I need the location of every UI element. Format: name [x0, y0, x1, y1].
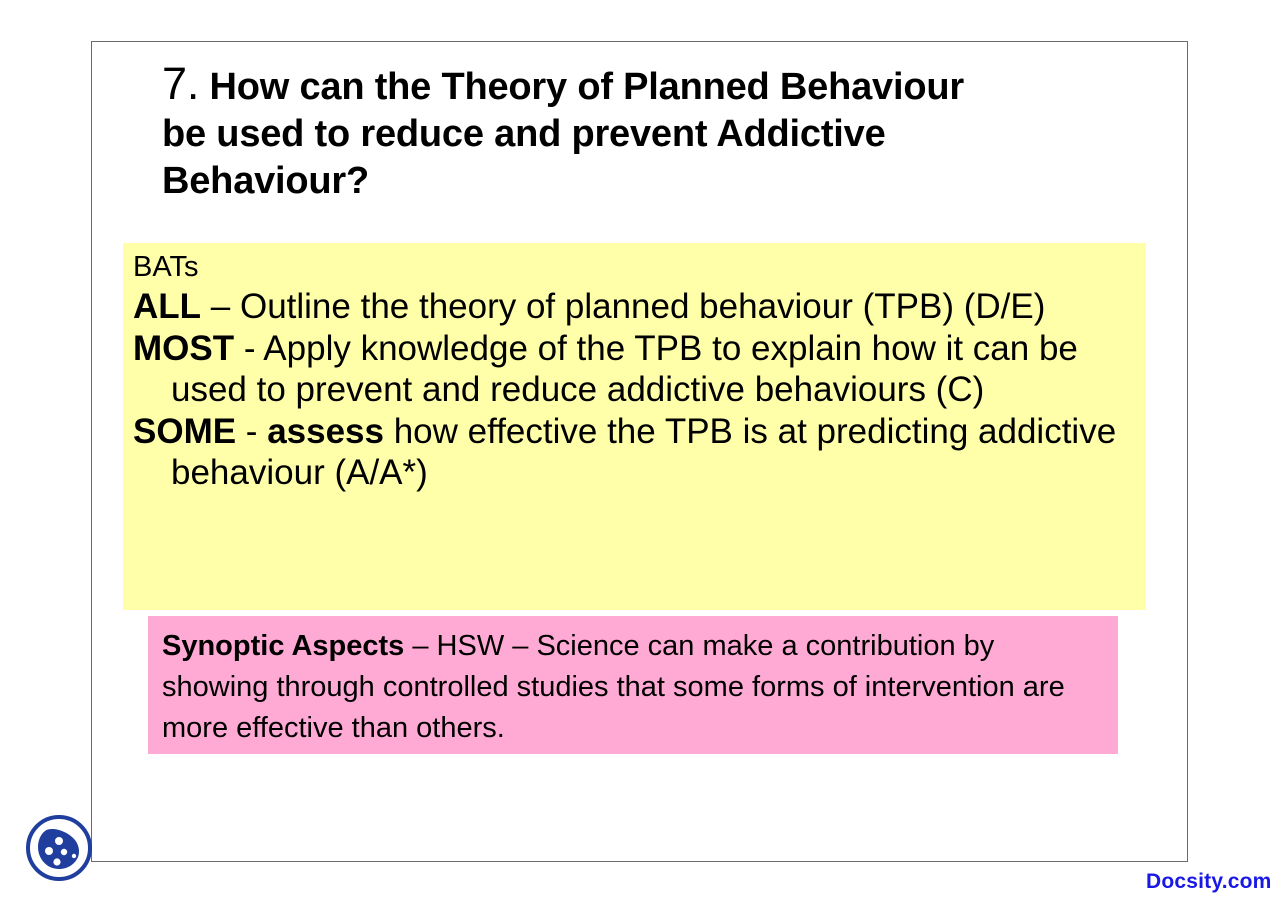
synoptic-text: Synoptic Aspects – HSW – Science can mak… [162, 626, 1104, 749]
docsity-watermark: Docsity.com [1146, 870, 1272, 894]
objective-level-all: ALL [133, 287, 201, 326]
objective-item-all: ALL – Outline the theory of planned beha… [133, 286, 1136, 327]
page-title: 7. How can the Theory of Planned Behavio… [162, 60, 1122, 205]
objective-item-most: MOST - Apply knowledge of the TPB to exp… [133, 328, 1136, 410]
objective-separator-some: - [236, 412, 267, 451]
title-line-3: Behaviour? [162, 160, 369, 202]
objective-separator-most: - [234, 329, 263, 368]
title-line-2: be used to reduce and prevent Addictive [162, 113, 886, 155]
objective-level-most: MOST [133, 329, 234, 368]
objectives-box: BATs ALL – Outline the theory of planned… [123, 243, 1146, 610]
objective-level-some: SOME [133, 412, 236, 451]
objectives-heading: BATs [133, 249, 1136, 285]
objective-text-some [384, 412, 394, 451]
title-line-1: How can the Theory of Planned Behaviour [210, 66, 964, 108]
objective-text-all: Outline the theory of planned behaviour … [240, 287, 1045, 326]
objective-item-some: SOME - assess how effective the TPB is a… [133, 411, 1136, 493]
slide-canvas: 7. How can the Theory of Planned Behavio… [91, 41, 1188, 862]
title-number: 7. [162, 58, 199, 109]
objective-emphasis-some: assess [267, 412, 384, 451]
objective-text-most: Apply knowledge of the TPB to explain ho… [171, 329, 1078, 409]
docsity-logo [23, 812, 95, 884]
synoptic-aspects-box: Synoptic Aspects – HSW – Science can mak… [148, 616, 1118, 754]
objective-separator-all: – [201, 287, 240, 326]
synoptic-label: Synoptic Aspects [162, 630, 404, 662]
synoptic-topic: HSW [437, 630, 505, 662]
synoptic-separator: – [404, 630, 436, 662]
